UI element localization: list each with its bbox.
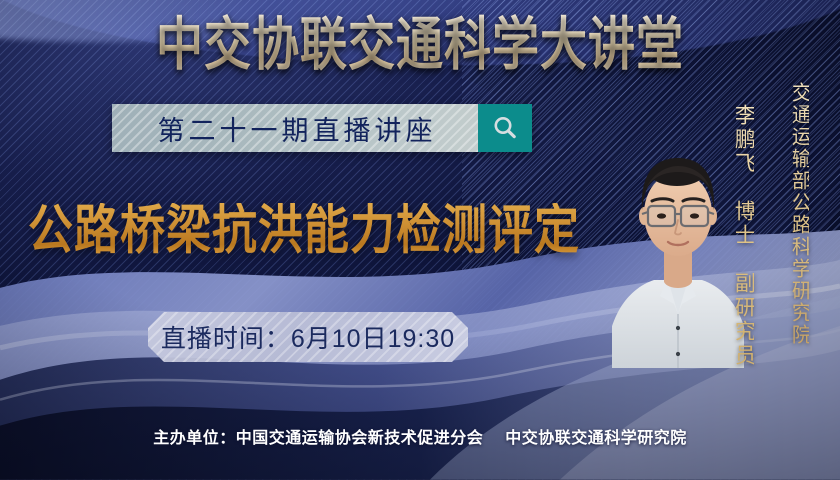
speaker-organization: 交通运输部公路科学研究院 <box>789 82 809 346</box>
footer-organizers: 主办单位：中国交通运输协会新技术促进分会中交协联交通科学研究院 <box>0 424 840 448</box>
lecture-headline: 公路桥梁抗洪能力检测评定 <box>28 203 580 256</box>
episode-banner: 第二十一期直播讲座 <box>112 104 532 152</box>
page-title: 中交协联交通科学大讲堂 <box>0 14 840 76</box>
broadcast-time-label: 直播时间：6月10日19:30 <box>161 319 455 355</box>
speaker-name-title: 李鹏飞 博士 副研究员 <box>733 104 754 368</box>
organizer-label: 主办单位：中国交通运输协会新技术促进分会 <box>153 430 483 447</box>
search-icon-tile[interactable] <box>478 104 532 152</box>
live-stream-poster: 李鹏飞 博士 副研究员 交通运输部公路科学研究院 中交协联交通科学大讲堂 第二十… <box>0 0 840 480</box>
speaker-photo <box>612 128 744 368</box>
episode-label: 第二十一期直播讲座 <box>112 109 478 148</box>
co-organizer-label: 中交协联交通科学研究院 <box>505 430 687 447</box>
episode-banner-body: 第二十一期直播讲座 <box>112 104 478 152</box>
search-icon <box>491 114 519 142</box>
broadcast-time-badge: 直播时间：6月10日19:30 <box>148 312 468 362</box>
